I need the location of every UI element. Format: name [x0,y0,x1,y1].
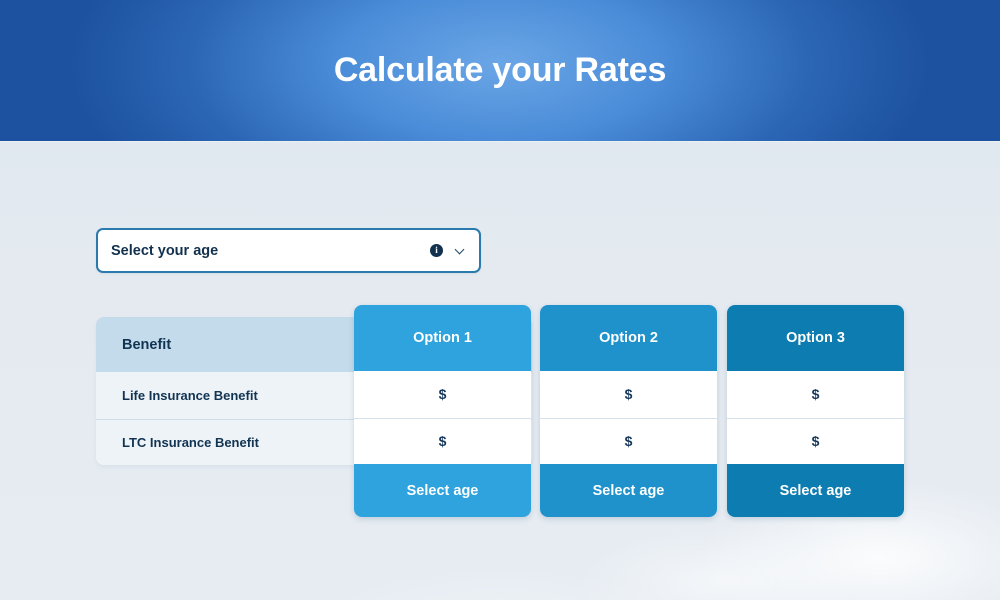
option-card-title: Option 1 [354,305,531,371]
age-select-dropdown[interactable]: Select your age i [96,228,481,273]
option-card-2[interactable]: Option 2 $ $ Select age [540,305,717,517]
option-cell-value: $ [540,418,717,465]
info-icon[interactable]: i [430,244,443,257]
option-card-1[interactable]: Option 1 $ $ Select age [354,305,531,517]
benefit-column-header: Benefit [122,337,171,353]
age-select-label: Select your age [111,243,430,259]
option-cell-value: $ [354,418,531,465]
option-card-title: Option 2 [540,305,717,371]
main-content: Select your age i Benefit Life Insurance… [0,0,1000,600]
select-age-button[interactable]: Select age [540,464,717,517]
chevron-down-icon[interactable] [456,246,465,255]
option-card-title: Option 3 [727,305,904,371]
select-age-button[interactable]: Select age [354,464,531,517]
option-card-3[interactable]: Option 3 $ $ Select age [727,305,904,517]
option-cell-value: $ [354,371,531,418]
benefit-row-label: LTC Insurance Benefit [122,435,259,450]
option-cell-value: $ [727,418,904,465]
option-cell-value: $ [727,371,904,418]
option-cell-value: $ [540,371,717,418]
benefit-row-label: Life Insurance Benefit [122,388,258,403]
select-age-button[interactable]: Select age [727,464,904,517]
